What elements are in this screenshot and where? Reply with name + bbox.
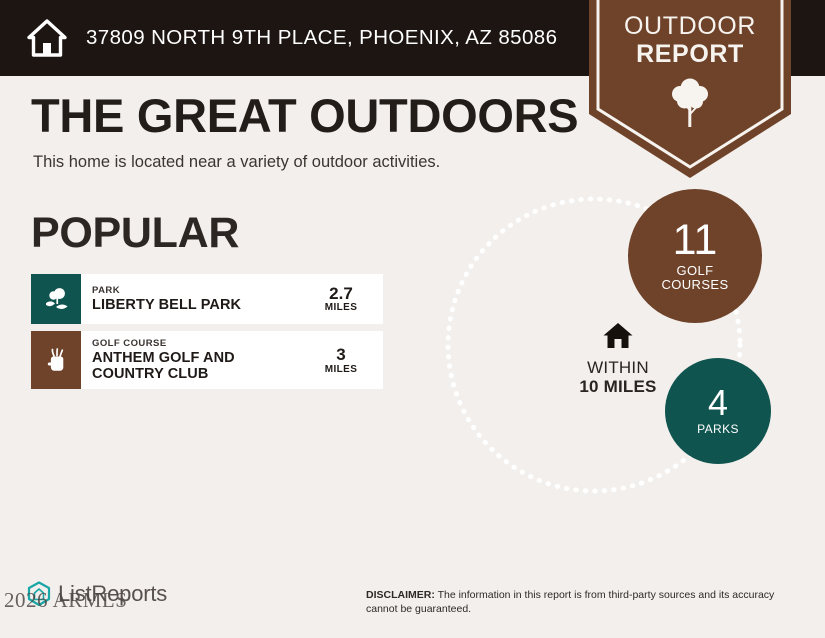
distance-value: 2.7 (329, 285, 353, 303)
stat-value: 4 (708, 386, 728, 420)
list-item[interactable]: PARK LIBERTY BELL PARK 2.7 MILES (31, 274, 383, 324)
page-title: THE GREAT OUTDOORS (31, 92, 578, 139)
list-item-category: PARK (92, 285, 305, 297)
stat-label-line1: GOLF (677, 263, 714, 278)
radius-within-label: WITHIN (548, 358, 688, 377)
list-item-distance: 2.7 MILES (309, 274, 383, 324)
page-subtitle: This home is located near a variety of o… (33, 153, 578, 172)
golf-bag-icon (31, 331, 81, 389)
stat-label-line2: COURSES (661, 277, 728, 292)
stat-bubble-parks[interactable]: 4 PARKS (665, 358, 771, 464)
stat-value: 11 (673, 220, 718, 261)
list-item-text: PARK LIBERTY BELL PARK (81, 274, 309, 324)
distance-value: 3 (336, 346, 345, 364)
park-trees-icon (31, 274, 81, 324)
footer: ListReports 2026 ARMLS DISCLAIMER: The i… (0, 566, 825, 638)
stat-label: PARKS (697, 423, 739, 436)
list-item[interactable]: GOLF COURSE ANTHEM GOLF AND COUNTRY CLUB… (31, 331, 383, 389)
list-item-distance: 3 MILES (309, 331, 383, 389)
radius-center-label: WITHIN 10 MILES (548, 320, 688, 396)
disclaimer-label: DISCLAIMER: (366, 589, 435, 601)
list-item-name: ANTHEM GOLF AND COUNTRY CLUB (92, 350, 305, 382)
popular-section-heading: POPULAR (31, 212, 239, 255)
distance-unit: MILES (325, 302, 358, 313)
distance-unit: MILES (325, 364, 358, 375)
popular-places-list: PARK LIBERTY BELL PARK 2.7 MILES GOLF CO… (31, 274, 383, 396)
tree-icon (670, 76, 710, 128)
disclaimer: DISCLAIMER: The information in this repo… (366, 588, 794, 616)
list-item-text: GOLF COURSE ANTHEM GOLF AND COUNTRY CLUB (81, 331, 309, 389)
list-item-name: LIBERTY BELL PARK (92, 297, 305, 313)
summary-area: WITHIN 10 MILES 11 GOLF COURSES 4 PARKS (420, 180, 820, 520)
home-icon (26, 17, 68, 59)
property-address: 37809 NORTH 9TH PLACE, PHOENIX, AZ 85086 (86, 26, 557, 50)
home-icon (602, 320, 634, 352)
stat-bubble-golf-courses[interactable]: 11 GOLF COURSES (628, 189, 762, 323)
mls-watermark: 2026 ARMLS (4, 588, 127, 613)
list-item-category: GOLF COURSE (92, 338, 305, 350)
title-block: THE GREAT OUTDOORS This home is located … (31, 92, 578, 172)
stat-label: GOLF COURSES (661, 264, 728, 293)
outdoor-report-badge: OUTDOOR REPORT (589, 0, 791, 178)
